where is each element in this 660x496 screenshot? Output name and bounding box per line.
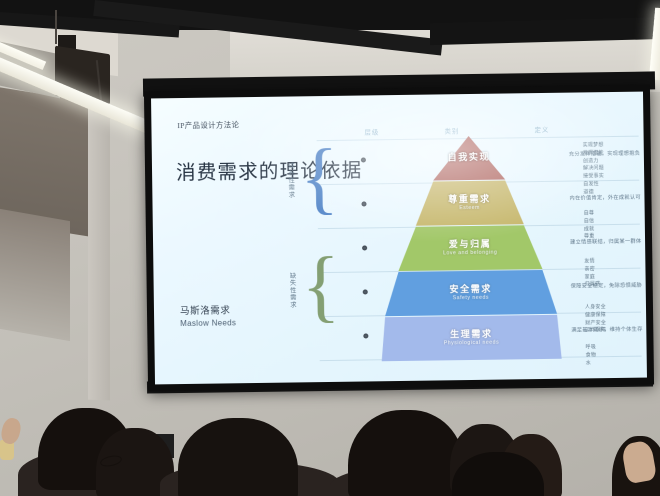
- pyramid-tier-love-belonging[interactable]: 爱与归属 Love and belonging: [380, 225, 561, 272]
- speaker-hanging-rod: [55, 10, 57, 44]
- pyramid-tier-physiological[interactable]: 生理需求 Physiological needs: [381, 315, 562, 362]
- maslow-caption-en: Maslow Needs: [180, 318, 236, 328]
- level-bullet: [361, 157, 366, 162]
- keyword-list: 自尊 自信 成就 尊重: [584, 210, 646, 242]
- keyword-item: 尊重: [584, 233, 646, 242]
- maslow-caption-cn: 马斯洛需求: [180, 302, 236, 317]
- keyword-item: 水: [586, 359, 647, 368]
- keyword-item: 工作保障: [585, 327, 647, 336]
- maslow-caption: 马斯洛需求 Maslow Needs: [180, 302, 236, 328]
- keyword-list: 实现梦想 发挥潜能 创造力 解决问题 接受事实 自发性 道德: [583, 142, 646, 197]
- tier-label-en: Physiological needs: [444, 340, 499, 346]
- level-bullet: [363, 289, 368, 294]
- left-wall-lower: [0, 209, 70, 341]
- deficiency-needs-brace-icon: {: [301, 246, 341, 327]
- tier-label-en: Love and belonging: [443, 250, 497, 256]
- level-bullet: [361, 201, 366, 206]
- slide-kicker: IP产品设计方法论: [177, 119, 239, 131]
- keyword-list: 呼吸 食物 水: [586, 344, 647, 368]
- column-header-definition: 定义: [534, 125, 549, 134]
- conference-room-scene: IP产品设计方法论 消费需求的理论依据 马斯洛需求 Maslow Needs 层…: [0, 0, 660, 496]
- column-header-category: 类别: [444, 126, 459, 135]
- pyramid-tier-self-actualization[interactable]: 自我实现: [379, 135, 560, 182]
- tier-label-cn: 安全需求: [449, 285, 492, 295]
- keyword-list: 友情 亲密 家庭 归属感: [584, 258, 646, 290]
- presentation-slide: IP产品设计方法论 消费需求的理论依据 马斯洛需求 Maslow Needs 层…: [151, 92, 647, 385]
- tier-label-en: Esteem: [448, 205, 490, 211]
- keyword-item: 道德: [583, 188, 645, 197]
- tier-label-cn: 尊重需求: [448, 195, 491, 205]
- side-label-deficiency: 缺失性需求: [287, 272, 297, 308]
- keyword-item: 归属感: [585, 281, 647, 290]
- side-label-growth: 成长性需求: [286, 162, 296, 198]
- column-header-level: 层级: [364, 127, 379, 136]
- left-column: [88, 100, 110, 401]
- tier-label-cn: 自我实现: [448, 153, 491, 163]
- pyramid-tier-safety[interactable]: 安全需求 Safety needs: [380, 270, 561, 317]
- keyword-list: 人身安全 健康保障 财产安全 工作保障: [585, 304, 647, 336]
- tier-label-cn: 生理需求: [444, 329, 499, 339]
- tier-label-en: Safety needs: [450, 295, 492, 301]
- level-bullet: [363, 333, 368, 338]
- level-bullet: [362, 245, 367, 250]
- maslow-pyramid: 自我实现 尊重需求 Esteem: [379, 135, 562, 367]
- tier-label-cn: 爱与归属: [443, 239, 497, 249]
- projection-screen: IP产品设计方法论 消费需求的理论依据 马斯洛需求 Maslow Needs 层…: [144, 84, 654, 391]
- growth-needs-brace-icon: {: [300, 138, 340, 219]
- needs-table: 层级 类别 定义: [316, 118, 641, 372]
- pyramid-tier-esteem[interactable]: 尊重需求 Esteem: [379, 180, 560, 227]
